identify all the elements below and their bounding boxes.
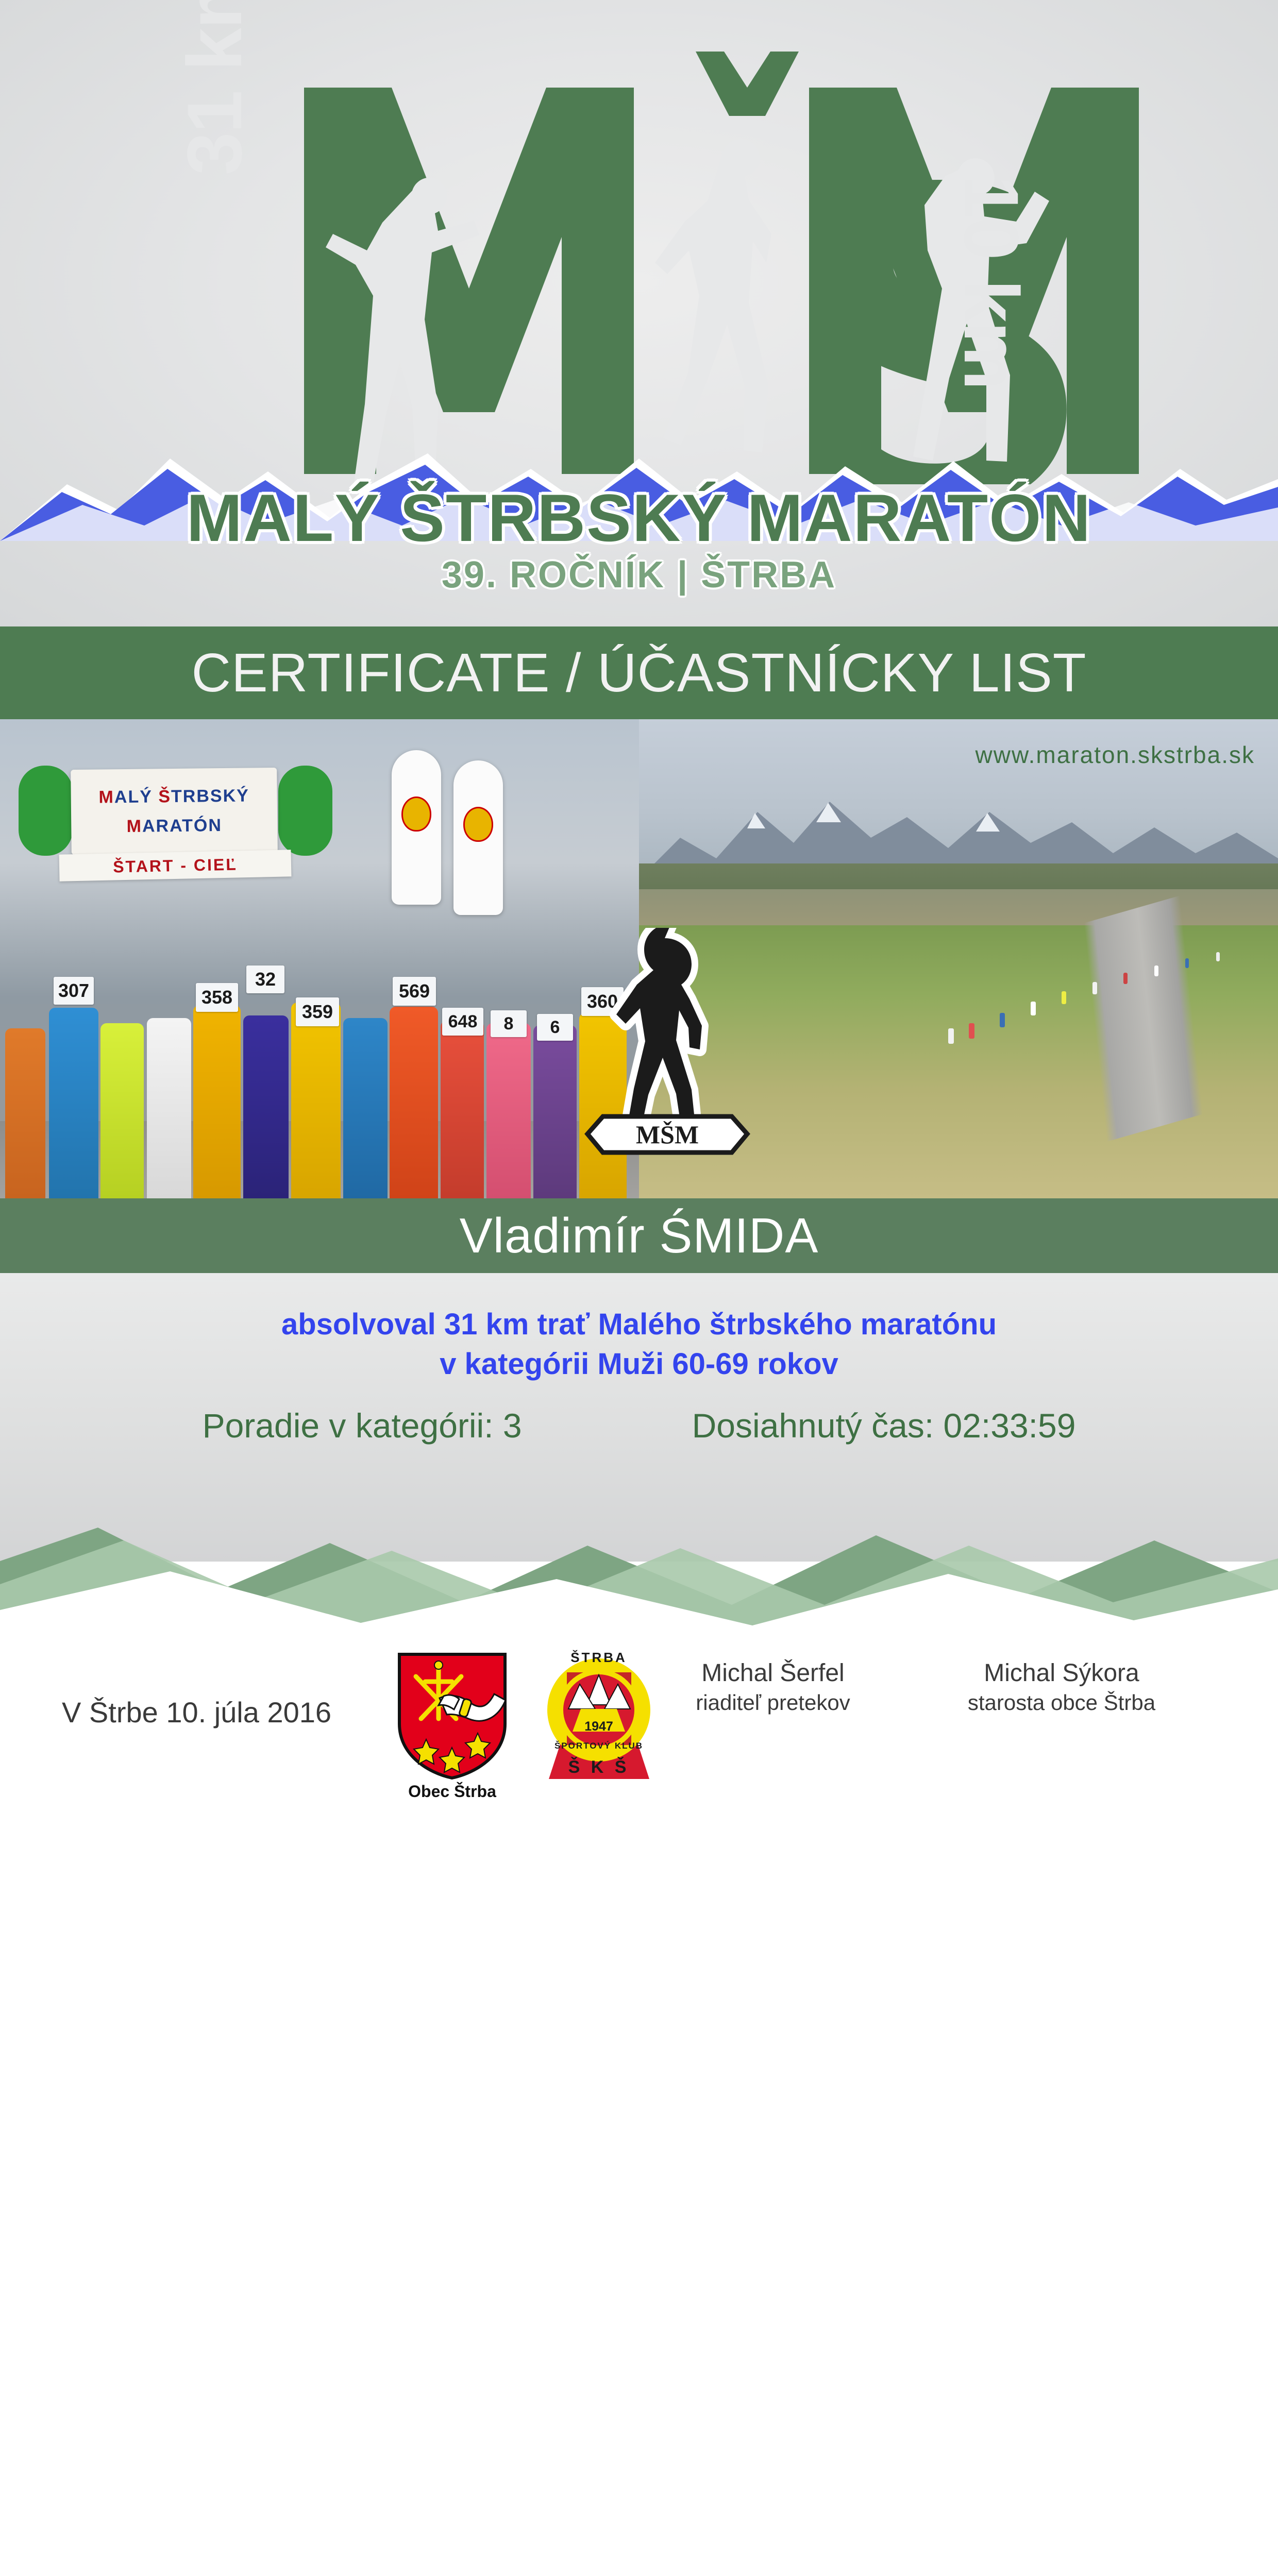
logo-header-area: 31 km 10 km MALÝ ŠTRBSKÝ MARATÓN 39. ROČ… [0, 0, 1278, 626]
bib-number: 32 [246, 965, 284, 993]
runner-figure [193, 1005, 241, 1198]
runner-figure [343, 1018, 388, 1198]
bib-number: 569 [393, 977, 436, 1006]
sks-bottom-text: Š K Š [568, 1757, 630, 1777]
certificate-title: CERTIFICATE / ÚČASTNÍCKY LIST [191, 642, 1086, 704]
runner-figure [441, 1021, 484, 1198]
sks-arc-text: ŠPORTOVÝ KLUB [554, 1741, 643, 1751]
distance-left-label: 31 km [170, 0, 259, 175]
category-rank: Poradie v kategórii: 3 [203, 1406, 522, 1445]
achievement-description: absolvoval 31 km trať Malého štrbského m… [0, 1305, 1278, 1384]
distant-runner [1031, 1002, 1036, 1015]
signature-block-2: Michal Sýkora starosta obce Štrba [943, 1659, 1180, 1715]
bib-number: 358 [196, 983, 238, 1012]
runner-figure [49, 1008, 98, 1198]
runner-figure [486, 1023, 531, 1198]
sks-top-text: ŠTRBA [570, 1650, 627, 1665]
signature-block-1: Michal Šerfel riaditeľ pretekov [665, 1659, 881, 1715]
sks-year-text: 1947 [584, 1719, 613, 1734]
obec-strba-label: Obec Štrba [394, 1782, 510, 1801]
start-finish-banner: ŠTART - CIEĽ [59, 850, 292, 881]
signatory-name: Michal Sýkora [943, 1659, 1180, 1687]
distant-runner [948, 1028, 954, 1044]
distant-runner [1092, 982, 1097, 994]
arch-banner: MALÝ ŠTRBSKÝ MARATÓN [71, 768, 278, 855]
flag-badge-icon [463, 807, 493, 842]
obec-strba-coat-of-arms-icon [394, 1652, 510, 1781]
arch-banner-line2: MARATÓN [126, 816, 222, 837]
distant-runner [969, 1023, 974, 1039]
distant-runner [1216, 952, 1220, 961]
bib-number: 648 [442, 1008, 483, 1036]
start-line-photo: MALÝ ŠTRBSKÝ MARATÓN ŠTART - CIEĽ [0, 719, 639, 1198]
bib-number: 6 [537, 1014, 573, 1041]
distant-runner [1062, 991, 1066, 1004]
website-url: www.maraton.skstrba.sk [976, 741, 1255, 769]
runner-figure [5, 1028, 45, 1198]
arch-banner-line1: MALÝ ŠTRBSKÝ [98, 786, 249, 807]
certificate-title-band: CERTIFICATE / ÚČASTNÍCKY LIST [0, 626, 1278, 719]
participant-name-band: Vladimír ŚMIDA [0, 1198, 1278, 1273]
signatory-role: starosta obce Štrba [943, 1690, 1180, 1715]
runner-figure [291, 1003, 341, 1198]
distant-runner [1185, 958, 1189, 968]
finish-time: Dosiahnutý čas: 02:33:59 [692, 1406, 1076, 1445]
bib-number: 8 [491, 1010, 527, 1037]
runner-figure [533, 1025, 577, 1198]
teardrop-flag-2 [453, 760, 503, 915]
distant-runner [1000, 1013, 1005, 1027]
inflatable-start-arch: MALÝ ŠTRBSKÝ MARATÓN ŠTART - CIEĽ [10, 745, 340, 874]
results-row: Poradie v kategórii: 3 Dosiahnutý čas: 0… [0, 1406, 1278, 1445]
distance-right-label: 10 km [947, 175, 1036, 389]
sks-club-logo-icon: ŠTRBA 1947 ŠPORTOVÝ KLUB Š K Š [544, 1644, 654, 1781]
arch-left-leg [19, 766, 73, 856]
bib-number: 307 [54, 977, 94, 1005]
distant-runner [1154, 965, 1158, 976]
photo-strip: MALÝ ŠTRBSKÝ MARATÓN ŠTART - CIEĽ [0, 719, 1278, 1198]
runner-figure [243, 1015, 289, 1198]
teardrop-flag-1 [392, 750, 441, 905]
description-line-2: v kategórii Muži 60-69 rokov [0, 1345, 1278, 1384]
event-wordmark: MALÝ ŠTRBSKÝ MARATÓN [0, 479, 1278, 556]
event-subtitle: 39. ROČNÍK | ŠTRBA [0, 554, 1278, 596]
runner-figure [147, 1018, 191, 1198]
participant-name: Vladimír ŚMIDA [460, 1208, 819, 1264]
bottom-mountain-decoration [0, 1473, 1278, 1628]
msm-logo: 31 km 10 km [0, 21, 1278, 484]
bib-number: 359 [296, 997, 339, 1026]
flag-badge-icon [401, 796, 431, 832]
arch-right-leg [278, 766, 332, 856]
description-line-1: absolvoval 31 km trať Malého štrbského m… [0, 1305, 1278, 1345]
runner-figure [390, 1007, 438, 1198]
msm-runner-emblem: MŠM [582, 928, 752, 1165]
issue-date: V Štrbe 10. júla 2016 [62, 1696, 331, 1729]
msm-emblem-text: MŠM [636, 1120, 699, 1149]
runner-figure [100, 1023, 144, 1198]
signatory-name: Michal Šerfel [665, 1659, 881, 1687]
signatory-role: riaditeľ pretekov [665, 1690, 881, 1715]
distant-runner [1123, 973, 1128, 984]
